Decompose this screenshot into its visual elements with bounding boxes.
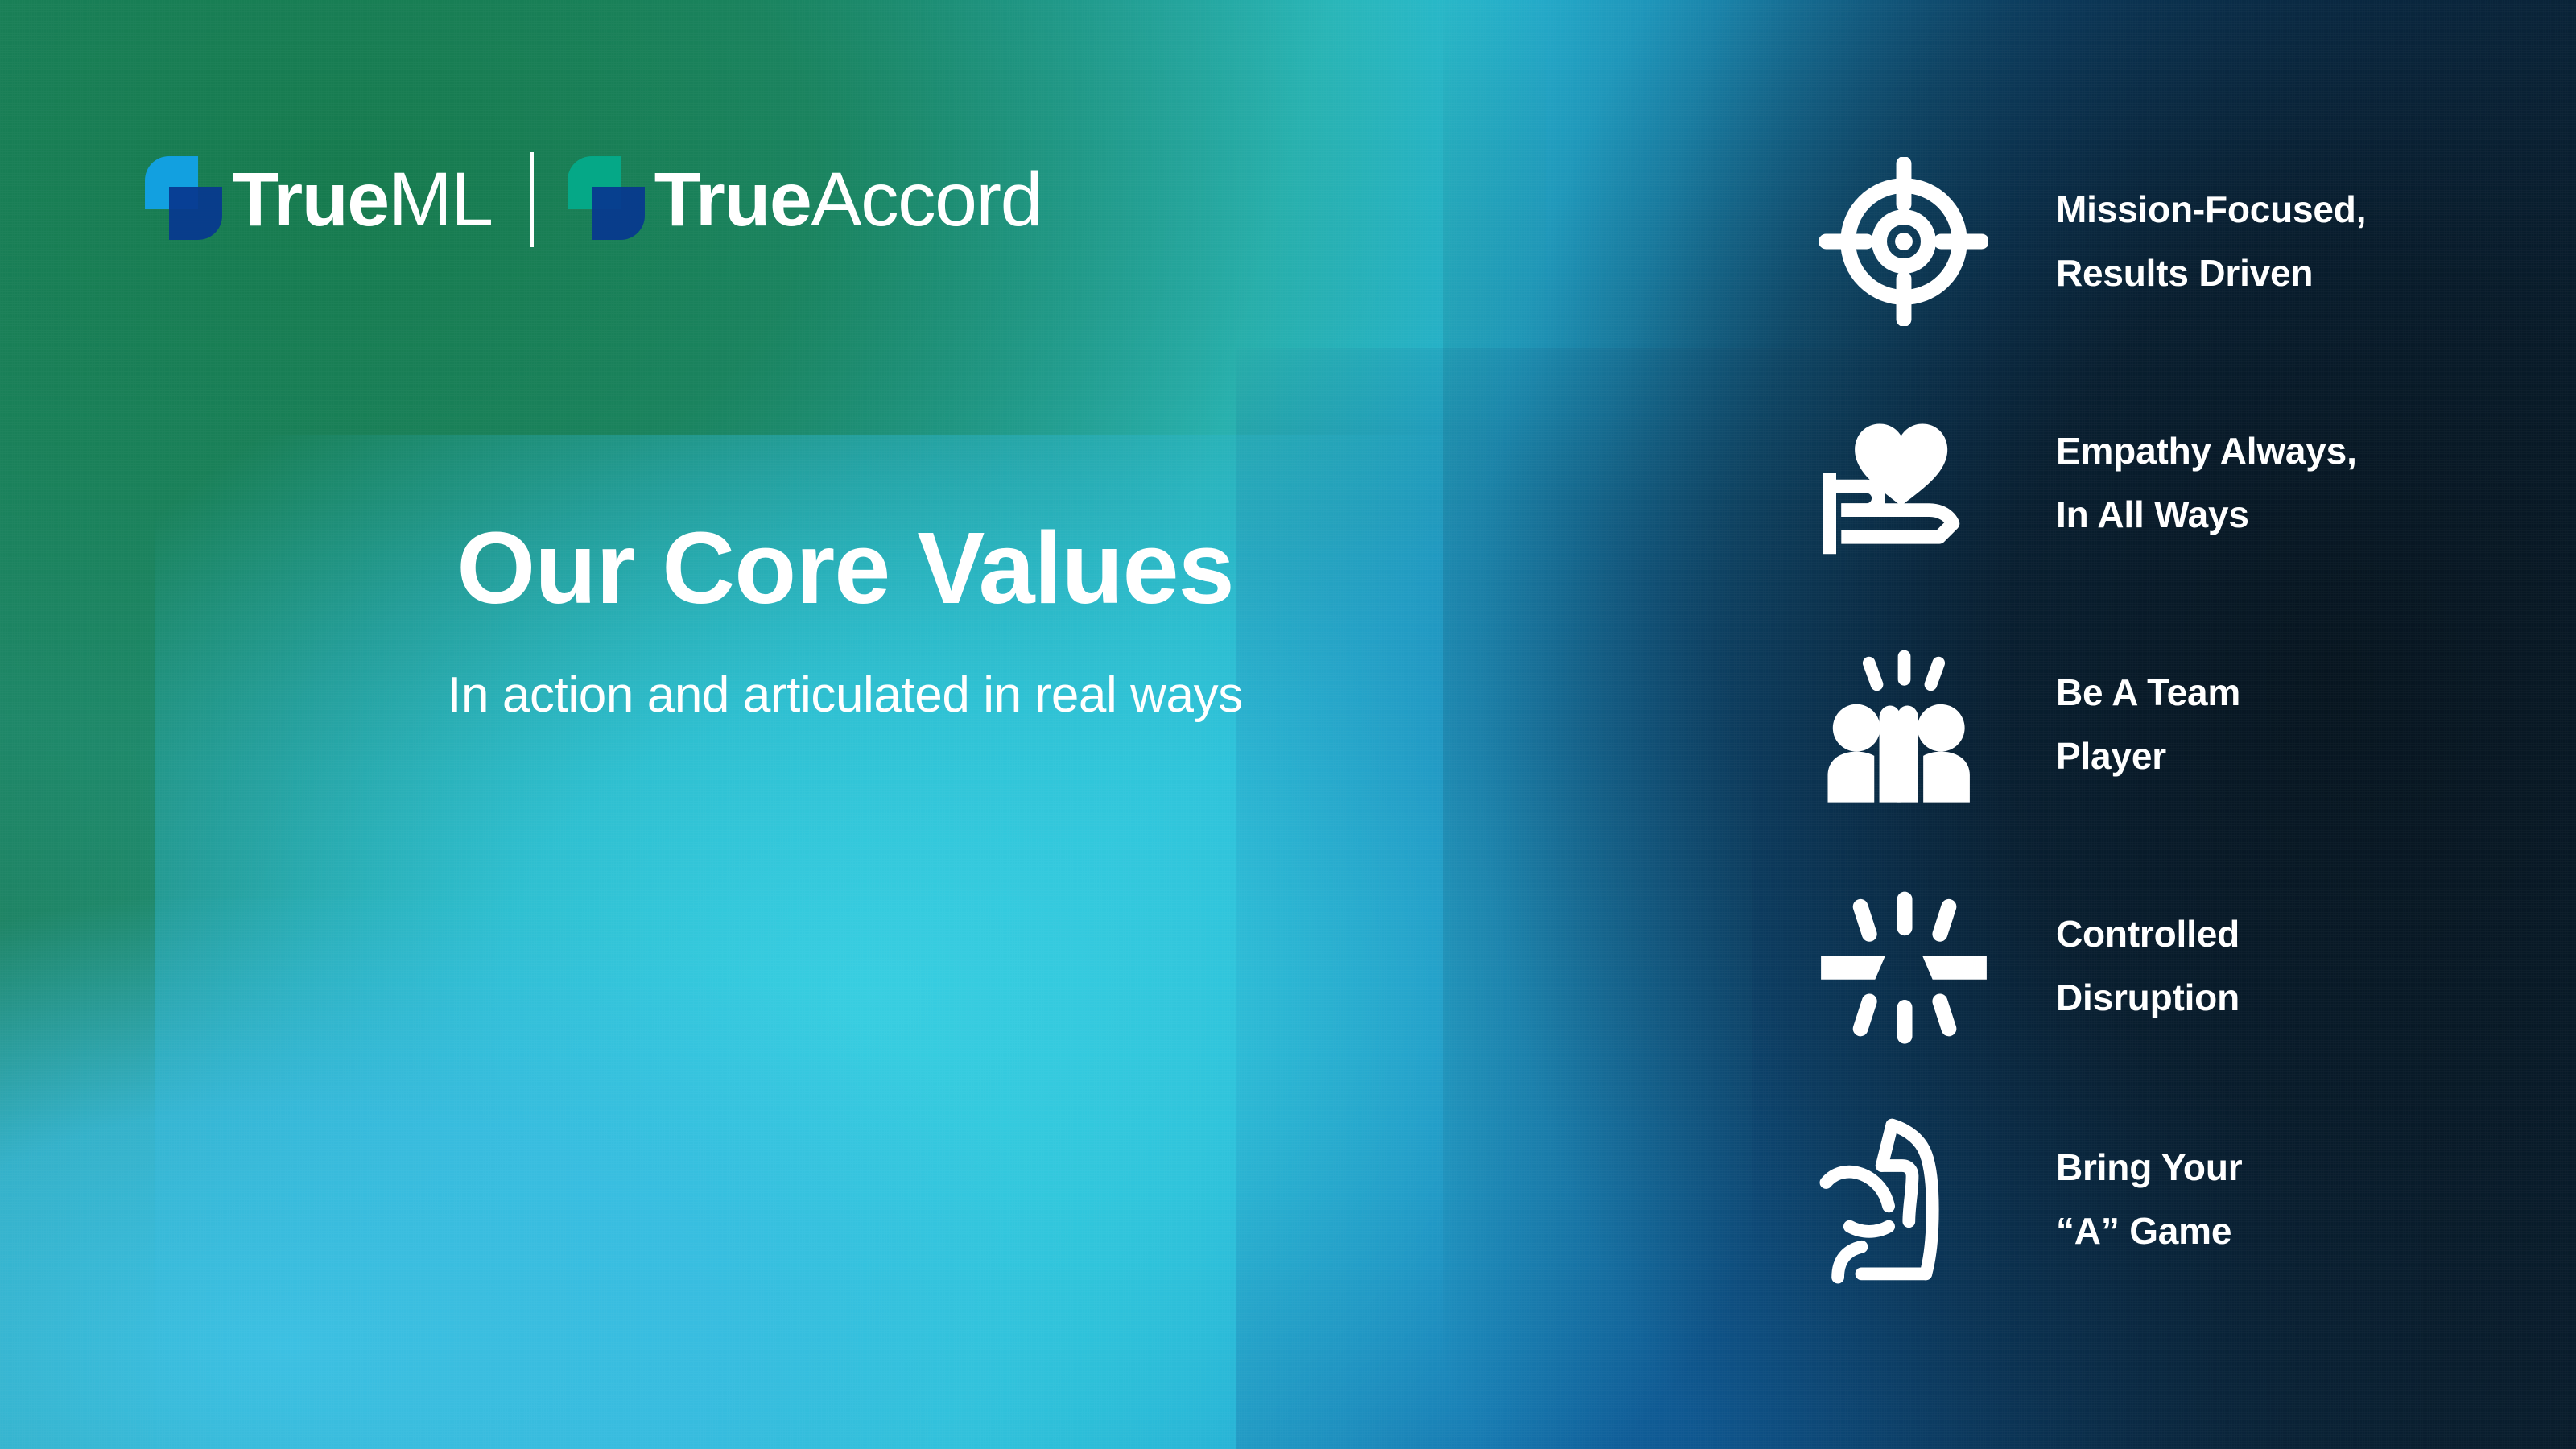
- list-item-label: Empathy Always, In All Ways: [2056, 419, 2357, 547]
- trueaccord-logo-mark: [568, 155, 645, 245]
- trueml-wordmark: TrueML: [232, 162, 493, 238]
- burst-break-icon: [1811, 873, 1996, 1059]
- logo-divider: [530, 152, 534, 247]
- trueaccord-wordmark-bold: True: [654, 157, 811, 242]
- list-item-label: Bring Your “A” Game: [2056, 1136, 2242, 1263]
- trueaccord-wordmark-light: Accord: [811, 157, 1042, 242]
- target-crosshair-icon: [1811, 149, 1996, 334]
- list-item: Mission-Focused, Results Driven: [1811, 121, 2520, 362]
- brand-trueaccord: TrueAccord: [568, 155, 1042, 245]
- trueml-wordmark-bold: True: [232, 157, 389, 242]
- trueaccord-wordmark: TrueAccord: [654, 162, 1042, 238]
- list-item-label: Be A Team Player: [2056, 661, 2240, 788]
- list-item: Be A Team Player: [1811, 604, 2520, 845]
- list-item: Empathy Always, In All Ways: [1811, 362, 2520, 604]
- page-subtitle: In action and articulated in real ways: [0, 621, 1690, 723]
- trueaccord-mark-square-secondary: [592, 187, 645, 240]
- logo-lockup: TrueML TrueAccord: [145, 143, 1042, 256]
- slide-canvas: TrueML TrueAccord Our Core Values In act…: [0, 0, 2576, 1449]
- high-five-team-icon: [1811, 632, 1996, 817]
- list-item-label: Controlled Disruption: [2056, 902, 2240, 1030]
- heart-in-hand-icon: [1811, 390, 1996, 576]
- brand-trueml: TrueML: [145, 155, 493, 245]
- trueml-logo-mark: [145, 155, 222, 245]
- page-title: Our Core Values: [0, 515, 1690, 621]
- list-item: Controlled Disruption: [1811, 845, 2520, 1087]
- list-item-label: Mission-Focused, Results Driven: [2056, 178, 2366, 305]
- trueml-wordmark-light: ML: [389, 157, 493, 242]
- trueml-mark-square-secondary: [169, 187, 222, 240]
- list-item: Bring Your “A” Game: [1811, 1087, 2520, 1312]
- hero-text-block: Our Core Values In action and articulate…: [0, 515, 1690, 723]
- flexed-bicep-icon: [1811, 1107, 1996, 1292]
- core-values-list: Mission-Focused, Results Driven Empathy …: [1811, 121, 2520, 1312]
